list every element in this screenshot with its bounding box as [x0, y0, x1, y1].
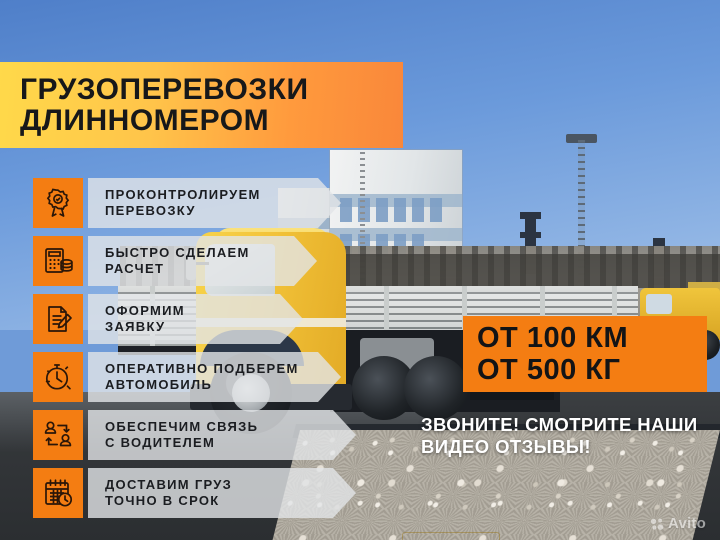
- award-badge-icon: [33, 178, 83, 228]
- avito-logo-icon: [650, 517, 664, 531]
- feature-text: ОПЕРАТИВНО ПОДБЕРЕМ АВТОМОБИЛЬ: [105, 361, 299, 394]
- feature-item: ДОСТАВИМ ГРУЗ ТОЧНО В СРОК: [33, 468, 593, 518]
- title-banner: ГРУЗОПЕРЕВОЗКИ ДЛИННОМЕРОМ: [0, 62, 403, 148]
- calculator-icon: [33, 236, 83, 286]
- feature-item: БЫСТРО СДЕЛАЕМ РАСЧЕТ: [33, 236, 593, 286]
- title-line-2: ДЛИННОМЕРОМ: [20, 105, 403, 137]
- avito-watermark-text: Avito: [668, 515, 706, 532]
- feature-item: ПРОКОНТРОЛИРУЕМ ПЕРЕВОЗКУ: [33, 178, 593, 228]
- feature-banner: ДОСТАВИМ ГРУЗ ТОЧНО В СРОК: [88, 468, 333, 518]
- document-form-icon: [33, 294, 83, 344]
- feature-text: ПРОКОНТРОЛИРУЕМ ПЕРЕВОЗКУ: [105, 187, 261, 220]
- calendar-clock-icon: [33, 468, 83, 518]
- feature-banner: ОПЕРАТИВНО ПОДБЕРЕМ АВТОМОБИЛЬ: [88, 352, 318, 402]
- feature-banner: ОБЕСПЕЧИМ СВЯЗЬ С ВОДИТЕЛЕМ: [88, 410, 333, 460]
- title-line-1: ГРУЗОПЕРЕВОЗКИ: [20, 74, 403, 106]
- cta-line-2: ВИДЕО ОТЗЫВЫ!: [421, 436, 711, 458]
- contacts-icon: [33, 410, 83, 460]
- feature-text: БЫСТРО СДЕЛАЕМ РАСЧЕТ: [105, 245, 250, 278]
- avito-watermark: Avito: [650, 515, 706, 532]
- call-to-action: ЗВОНИТЕ! СМОТРИТЕ НАШИ ВИДЕО ОТЗЫВЫ!: [421, 414, 711, 457]
- price-banner: ОТ 100 КМ ОТ 500 КГ: [463, 316, 707, 392]
- feature-text: ОФОРМИМ ЗАЯВКУ: [105, 303, 185, 336]
- feature-text: ДОСТАВИМ ГРУЗ ТОЧНО В СРОК: [105, 477, 232, 510]
- feature-banner: ОФОРМИМ ЗАЯВКУ: [88, 294, 280, 344]
- cta-line-1: ЗВОНИТЕ! СМОТРИТЕ НАШИ: [421, 414, 711, 436]
- feature-banner: БЫСТРО СДЕЛАЕМ РАСЧЕТ: [88, 236, 294, 286]
- feature-banner: ПРОКОНТРОЛИРУЕМ ПЕРЕВОЗКУ: [88, 178, 318, 228]
- ad-creative: ГРУЗОПЕРЕВОЗКИ ДЛИННОМЕРОМ ПРОКОНТРОЛИРУ…: [0, 0, 720, 540]
- price-line-2: ОТ 500 КГ: [477, 354, 620, 386]
- stopwatch-icon: [33, 352, 83, 402]
- price-line-1: ОТ 100 КМ: [477, 322, 628, 354]
- feature-text: ОБЕСПЕЧИМ СВЯЗЬ С ВОДИТЕЛЕМ: [105, 419, 258, 452]
